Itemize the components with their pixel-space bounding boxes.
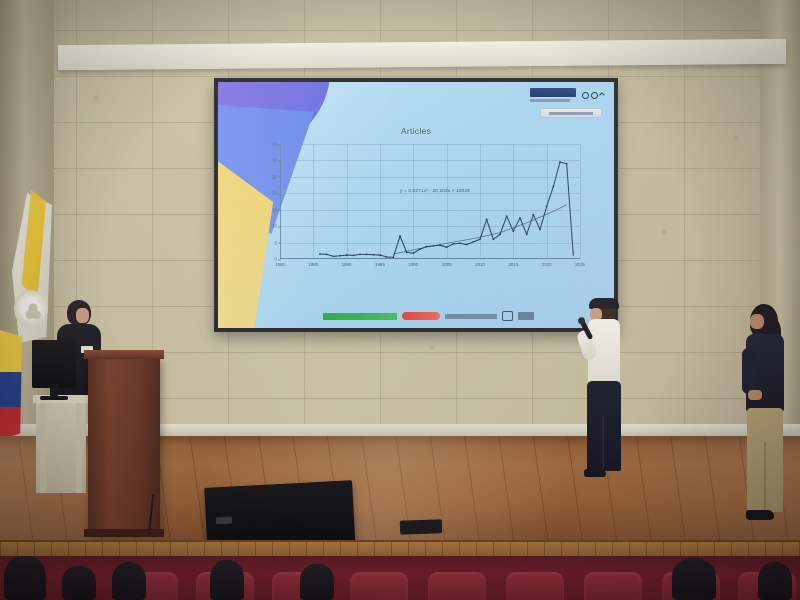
x-tick-label: 1990 bbox=[342, 262, 352, 267]
red-pill-logo-icon bbox=[402, 312, 440, 320]
colombia-flag bbox=[0, 330, 22, 440]
audience-seat bbox=[506, 572, 564, 600]
audience-member bbox=[758, 562, 792, 600]
audience-seat bbox=[428, 572, 486, 600]
y-tick-label: 5 bbox=[275, 240, 277, 245]
regression-equation-label: y = 0,0271x² - 20,203x + 10029 bbox=[400, 188, 470, 193]
y-tick-label: 0 bbox=[275, 257, 277, 262]
x-tick-label: 1980 bbox=[275, 262, 285, 267]
side-table-leg bbox=[76, 403, 82, 493]
x-tick-label: 2025 bbox=[575, 262, 585, 267]
footer-extra-logo-icon bbox=[518, 312, 534, 320]
x-tick-label: 1995 bbox=[375, 262, 385, 267]
attendee-trousers bbox=[747, 408, 783, 512]
side-table-leg bbox=[40, 403, 46, 493]
attendee-hand bbox=[748, 390, 762, 400]
audience-member bbox=[300, 564, 334, 600]
x-tick-label: 2010 bbox=[475, 262, 485, 267]
attendee-shoe bbox=[746, 510, 774, 520]
x-tick-label: 1985 bbox=[308, 262, 318, 267]
chart-series-canvas bbox=[280, 144, 580, 259]
institution-wordmark-icon bbox=[530, 88, 576, 102]
slide-logo-group bbox=[530, 88, 604, 102]
ojo-logo-icon bbox=[582, 92, 604, 99]
projection-screen[interactable]: Articles 0 5 10 15 20 25 30 35 bbox=[214, 78, 618, 332]
podium-base bbox=[84, 529, 164, 537]
audience-member bbox=[672, 558, 716, 600]
y-tick-label: 20 bbox=[272, 191, 277, 196]
audience-area bbox=[0, 556, 800, 600]
presentation-slide: Articles 0 5 10 15 20 25 30 35 bbox=[218, 82, 614, 328]
partner-text-icon bbox=[445, 314, 497, 319]
y-tick-label: 35 bbox=[272, 142, 277, 147]
y-tick-label: 10 bbox=[272, 224, 277, 229]
operator-monitor[interactable] bbox=[32, 340, 76, 388]
speaker-trousers bbox=[587, 381, 621, 471]
podium-top bbox=[84, 350, 164, 359]
y-tick-label: 15 bbox=[272, 207, 277, 212]
side-table bbox=[36, 395, 86, 493]
floor-equipment-box bbox=[400, 519, 442, 534]
speaker-shoe bbox=[584, 469, 606, 477]
institution-crest-icon bbox=[14, 290, 48, 328]
audience-member bbox=[112, 562, 146, 600]
x-tick-label: 2000 bbox=[408, 262, 418, 267]
green-wordmark-logo-icon bbox=[323, 313, 397, 320]
chart-plot-area: 0 5 10 15 20 25 30 35 bbox=[280, 144, 580, 259]
standing-attendee bbox=[742, 304, 794, 526]
wooden-podium bbox=[88, 356, 160, 532]
operator-face bbox=[76, 308, 89, 323]
audience-seat bbox=[350, 572, 408, 600]
slide-footer-logos bbox=[323, 310, 606, 322]
audience-seat bbox=[584, 572, 642, 600]
standing-speaker bbox=[578, 300, 630, 482]
app-icon bbox=[502, 311, 513, 321]
audience-member bbox=[62, 566, 96, 600]
x-tick-label: 2005 bbox=[442, 262, 452, 267]
auditorium-scene: Articles 0 5 10 15 20 25 30 35 bbox=[0, 0, 800, 600]
attendee-arm bbox=[742, 348, 755, 394]
monitor-foot bbox=[40, 396, 68, 400]
y-tick-label: 30 bbox=[272, 158, 277, 163]
audience-member bbox=[210, 560, 244, 600]
partner-badge-icon bbox=[540, 108, 602, 118]
x-tick-label: 2020 bbox=[542, 262, 552, 267]
y-tick-label: 25 bbox=[272, 174, 277, 179]
attendee-face bbox=[750, 314, 764, 329]
audience-member bbox=[4, 556, 46, 600]
chart-title: Articles bbox=[218, 126, 614, 136]
x-tick-label: 2015 bbox=[509, 262, 519, 267]
tv-brand-label bbox=[216, 517, 232, 525]
